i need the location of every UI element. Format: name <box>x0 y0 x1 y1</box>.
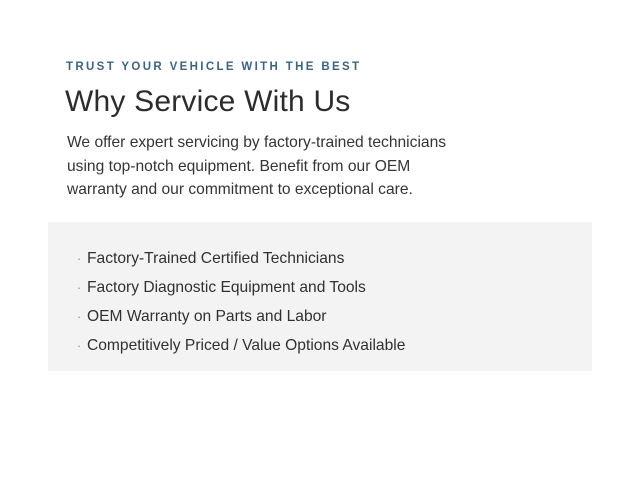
bullet-dot-icon: · <box>74 273 84 302</box>
bullet-dot-icon: · <box>74 244 84 273</box>
benefits-panel: · Factory-Trained Certified Technicians … <box>48 222 592 371</box>
intro-line: using top-notch equipment. Benefit from … <box>67 155 559 179</box>
service-benefits-page: TRUST YOUR VEHICLE WITH THE BEST Why Ser… <box>0 0 640 480</box>
intro-line: We offer expert servicing by factory-tra… <box>67 131 559 155</box>
intro-line: warranty and our commitment to exception… <box>67 178 559 202</box>
list-item: · Factory-Trained Certified Technicians <box>48 244 592 273</box>
section-eyebrow: TRUST YOUR VEHICLE WITH THE BEST <box>66 59 361 75</box>
list-item: · Competitively Priced / Value Options A… <box>48 331 592 360</box>
benefits-list: · Factory-Trained Certified Technicians … <box>48 222 592 360</box>
page-title: Why Service With Us <box>65 84 351 120</box>
intro-paragraph: We offer expert servicing by factory-tra… <box>67 131 559 202</box>
list-item-label: Factory Diagnostic Equipment and Tools <box>87 279 366 296</box>
list-item-label: OEM Warranty on Parts and Labor <box>87 308 327 325</box>
list-item-label: Competitively Priced / Value Options Ava… <box>87 337 405 354</box>
list-item: · OEM Warranty on Parts and Labor <box>48 302 592 331</box>
bullet-dot-icon: · <box>74 331 84 360</box>
list-item: · Factory Diagnostic Equipment and Tools <box>48 273 592 302</box>
bullet-dot-icon: · <box>74 302 84 331</box>
list-item-label: Factory-Trained Certified Technicians <box>87 250 344 267</box>
